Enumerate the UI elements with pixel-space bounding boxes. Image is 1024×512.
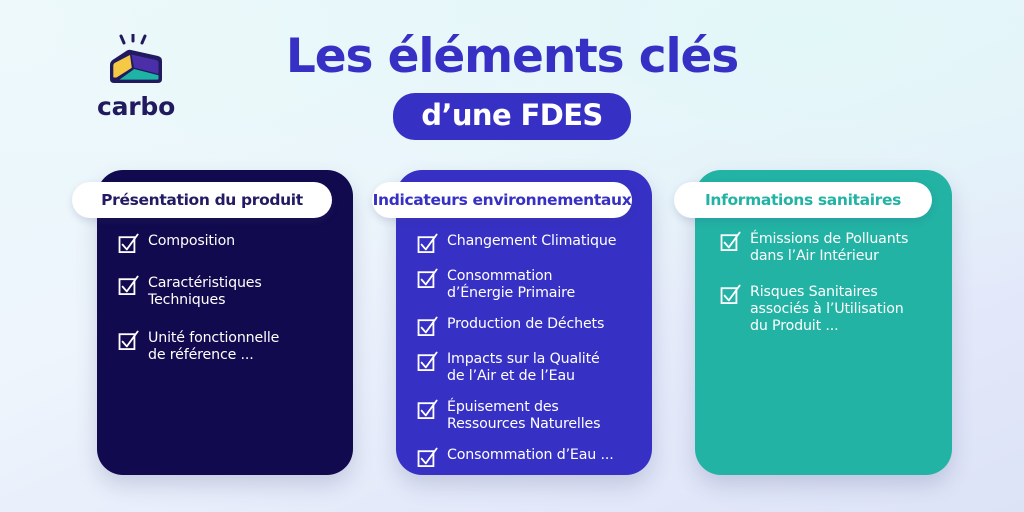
card-3-header-pill: Informations sanitaires [674, 182, 932, 218]
list-item-label: Émissions de Polluants dans l’Air Intéri… [750, 230, 908, 265]
list-item-label: Consommation d’Eau ... [447, 446, 614, 464]
list-item-label: Unité fonctionnelle de référence ... [148, 329, 279, 364]
checked-checkbox-icon [417, 447, 438, 468]
checked-checkbox-icon [118, 233, 139, 254]
page-title: Les éléments clés [0, 31, 1024, 83]
card-1-item-list: Composition Caractéristiques Techniques [118, 232, 341, 384]
checked-checkbox-icon [720, 231, 741, 252]
list-item: Changement Climatique [417, 232, 640, 254]
card-2-header-pill: Indicateurs environnementaux [372, 182, 632, 218]
checked-checkbox-icon [720, 284, 741, 305]
list-item: Épuisement des Ressources Naturelles [417, 398, 640, 433]
checked-checkbox-icon [417, 399, 438, 420]
list-item: Caractéristiques Techniques [118, 274, 341, 309]
checked-checkbox-icon [417, 316, 438, 337]
list-item: Composition [118, 232, 341, 254]
checked-checkbox-icon [417, 268, 438, 289]
list-item-label: Épuisement des Ressources Naturelles [447, 398, 600, 433]
card-2-item-list: Changement Climatique Consommation d’Éne… [417, 232, 640, 481]
card-3-item-list: Émissions de Polluants dans l’Air Intéri… [720, 230, 940, 353]
list-item: Impacts sur la Qualité de l’Air et de l’… [417, 350, 640, 385]
list-item: Émissions de Polluants dans l’Air Intéri… [720, 230, 940, 265]
checked-checkbox-icon [118, 275, 139, 296]
list-item: Consommation d’Eau ... [417, 446, 640, 468]
list-item-label: Changement Climatique [447, 232, 616, 250]
checked-checkbox-icon [417, 233, 438, 254]
list-item-label: Production de Déchets [447, 315, 604, 333]
list-item-label: Consommation d’Énergie Primaire [447, 267, 575, 302]
list-item-label: Caractéristiques Techniques [148, 274, 262, 309]
subtitle-badge: d’une FDES [393, 93, 630, 140]
card-1-header-pill: Présentation du produit [72, 182, 332, 218]
checked-checkbox-icon [118, 330, 139, 351]
checked-checkbox-icon [417, 351, 438, 372]
list-item-label: Composition [148, 232, 235, 250]
infographic-canvas: carbo Les éléments clés d’une FDES Compo… [0, 0, 1024, 512]
list-item-label: Risques Sanitaires associés à l’Utilisat… [750, 283, 904, 335]
subtitle-wrapper: d’une FDES [0, 93, 1024, 140]
list-item-label: Impacts sur la Qualité de l’Air et de l’… [447, 350, 600, 385]
list-item: Unité fonctionnelle de référence ... [118, 329, 341, 364]
list-item: Consommation d’Énergie Primaire [417, 267, 640, 302]
list-item: Production de Déchets [417, 315, 640, 337]
list-item: Risques Sanitaires associés à l’Utilisat… [720, 283, 940, 335]
